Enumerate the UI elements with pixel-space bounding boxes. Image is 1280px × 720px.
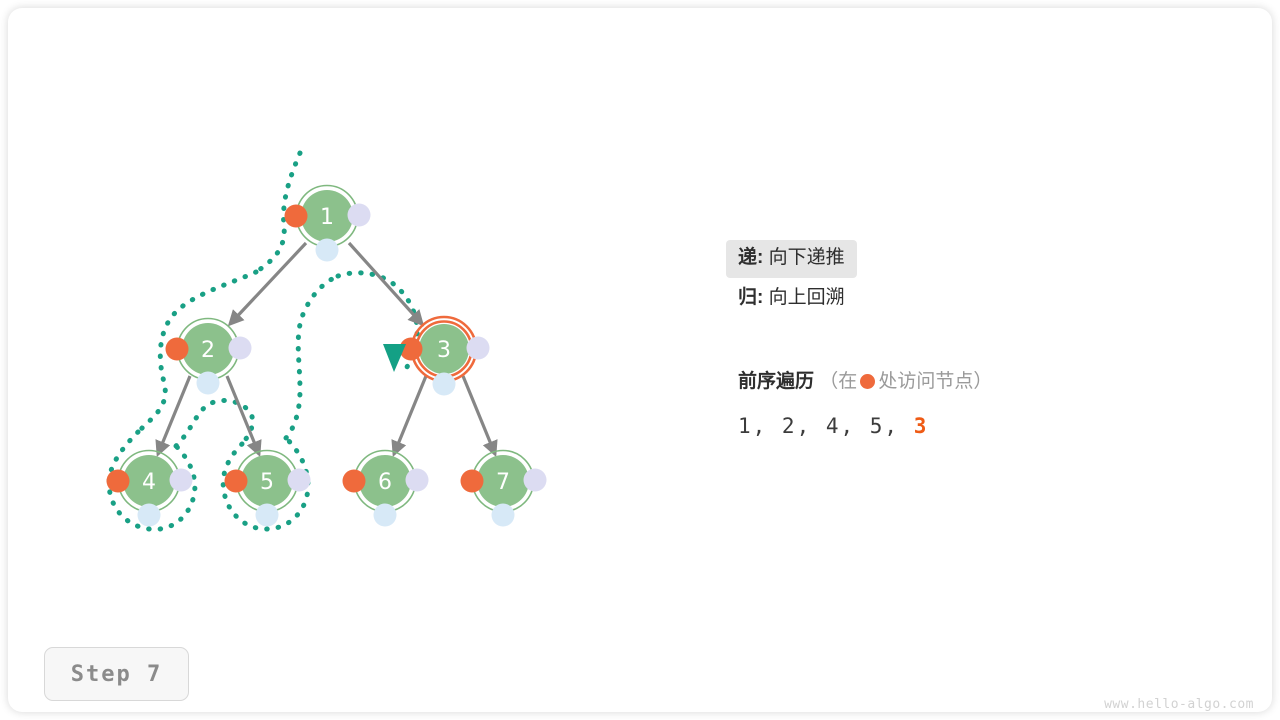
node-label: 5 [260, 470, 274, 495]
node-bottom-dot [256, 504, 279, 527]
traversal-order-title: 前序遍历 （在处访问节点） [738, 368, 1258, 396]
legend-line-recurse: 递: 向下递推 [726, 240, 857, 278]
edge-3-6 [394, 376, 426, 454]
tree-node-2[interactable]: 2 [166, 319, 252, 395]
node-visit-dot [166, 338, 189, 361]
edge-3-7 [463, 376, 495, 454]
node-right-dot [170, 469, 193, 492]
edge-1-3 [349, 243, 422, 324]
recursion-legend: 递: 向下递推 归: 向上回溯 [734, 240, 1254, 320]
diagram-stage: 1 2 3 [8, 8, 1272, 712]
tree-node-3[interactable]: 3 [383, 317, 490, 396]
node-bottom-dot [492, 504, 515, 527]
node-visit-dot [461, 470, 484, 493]
node-right-dot [348, 204, 371, 227]
traversal-order-block: 前序遍历 （在处访问节点） 1, 2, 4, 5, 3 [738, 368, 1258, 438]
node-label: 7 [496, 470, 510, 495]
node-right-dot [229, 337, 252, 360]
trail-segment-back-to-root [286, 276, 338, 438]
legend-line-backtrack: 归: 向上回溯 [734, 280, 1254, 318]
step-label: Step 7 [71, 662, 162, 687]
node-visit-dot [107, 470, 130, 493]
tree-node-7[interactable]: 7 [461, 451, 547, 527]
figure-card: 1 2 3 [8, 8, 1272, 712]
node-bottom-dot [197, 372, 220, 395]
node-right-dot [524, 469, 547, 492]
step-badge: Step 7 [44, 647, 189, 701]
edge-2-4 [158, 376, 190, 454]
node-right-dot [467, 337, 490, 360]
node-bottom-dot [316, 239, 339, 262]
node-right-dot [288, 469, 311, 492]
tree-node-6[interactable]: 6 [343, 451, 429, 527]
visited-sequence: 1, 2, 4, 5, [738, 414, 899, 438]
node-bottom-dot [374, 504, 397, 527]
node-label: 3 [437, 338, 451, 363]
node-visit-dot [343, 470, 366, 493]
legend-backtrack-text: 向上回溯 [763, 287, 844, 308]
traversal-note-prefix: （在 [819, 371, 857, 392]
node-label: 4 [142, 470, 156, 495]
node-visit-dot [285, 205, 308, 228]
node-visit-dot [225, 470, 248, 493]
current-visited-value: 3 [914, 414, 929, 438]
legend-recurse-text: 向下递推 [763, 247, 844, 268]
legend-backtrack-label: 归: [738, 287, 763, 308]
current-position-pointer-icon [383, 344, 406, 372]
node-right-dot [406, 469, 429, 492]
traversal-note-suffix: 处访问节点） [878, 371, 992, 392]
visit-dot-icon [860, 374, 875, 389]
node-label: 2 [201, 338, 215, 363]
legend-recurse-label: 递: [738, 247, 763, 268]
binary-tree-graphic: 1 2 3 [8, 8, 1272, 712]
traversal-type-label: 前序遍历 [738, 371, 814, 392]
traversal-order-values: 1, 2, 4, 5, 3 [738, 414, 1258, 438]
node-label: 1 [320, 205, 334, 230]
edge-1-2 [230, 243, 306, 324]
node-bottom-dot [138, 504, 161, 527]
node-label: 6 [378, 470, 392, 495]
site-watermark: www.hello-algo.com [1104, 697, 1254, 712]
node-bottom-dot [433, 373, 456, 396]
